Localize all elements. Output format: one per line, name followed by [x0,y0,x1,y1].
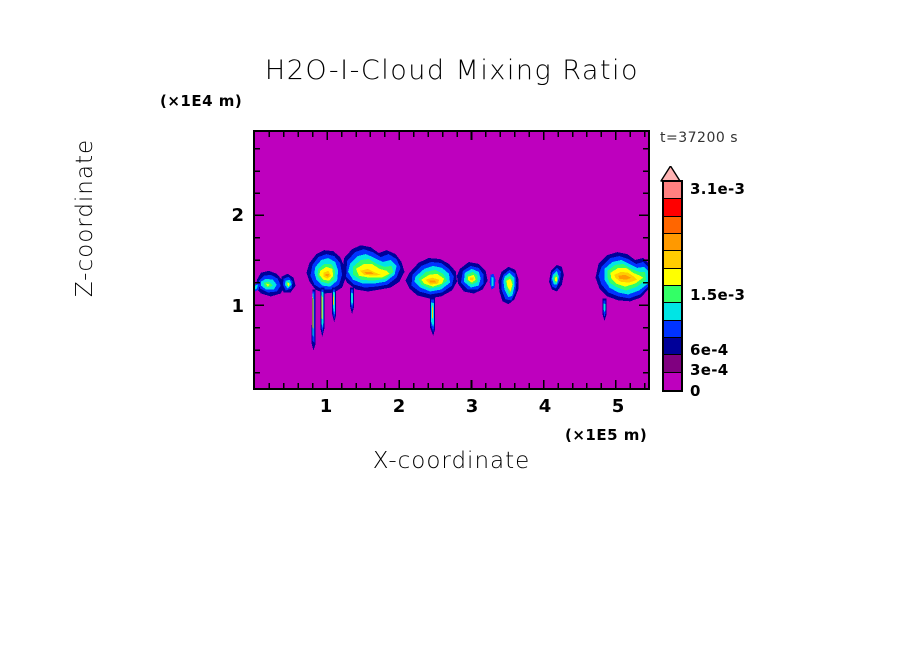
colorbar-band [664,182,681,199]
x-axis-unit-label: (×1E5 m) [565,426,647,444]
page-title: H2O-I-Cloud Mixing Ratio [0,55,904,86]
timestamp-annotation: t=37200 s [660,130,738,146]
x-tick-label-4: 4 [530,396,560,417]
colorbar-label-mid: 1.5e-3 [690,286,745,304]
colorbar-band [664,217,681,234]
colorbar-band [664,251,681,268]
colorbar-band [664,199,681,216]
figure-canvas: H2O-I-Cloud Mixing Ratio (×1E4 m) t=3720… [0,0,904,654]
colorbar-label-max: 3.1e-3 [690,180,745,198]
x-tick-label-2: 2 [384,396,414,417]
colorbar-band [664,269,681,286]
colorbar-band [664,286,681,303]
colorbar-band [664,234,681,251]
plot-area [253,130,650,390]
x-tick-label-3: 3 [457,396,487,417]
y-tick-label-2: 2 [214,205,244,226]
colorbar-label-6e-4: 6e-4 [690,341,728,359]
x-axis-title: X-coordinate [253,448,650,474]
colorbar[interactable] [662,180,683,392]
contour-field [255,132,648,388]
x-tick-label-5: 5 [603,396,633,417]
x-tick-label-1: 1 [311,396,341,417]
colorbar-band [664,373,681,390]
colorbar-band [664,321,681,338]
colorbar-band [664,303,681,320]
colorbar-label-3e-4: 3e-4 [690,361,728,379]
y-axis-unit-label: (×1E4 m) [160,92,242,110]
colorbar-label-zero: 0 [690,382,701,400]
colorbar-band [664,355,681,372]
y-axis-title: Z-coordinate [72,118,98,318]
colorbar-band [664,338,681,355]
y-tick-label-1: 1 [214,296,244,317]
